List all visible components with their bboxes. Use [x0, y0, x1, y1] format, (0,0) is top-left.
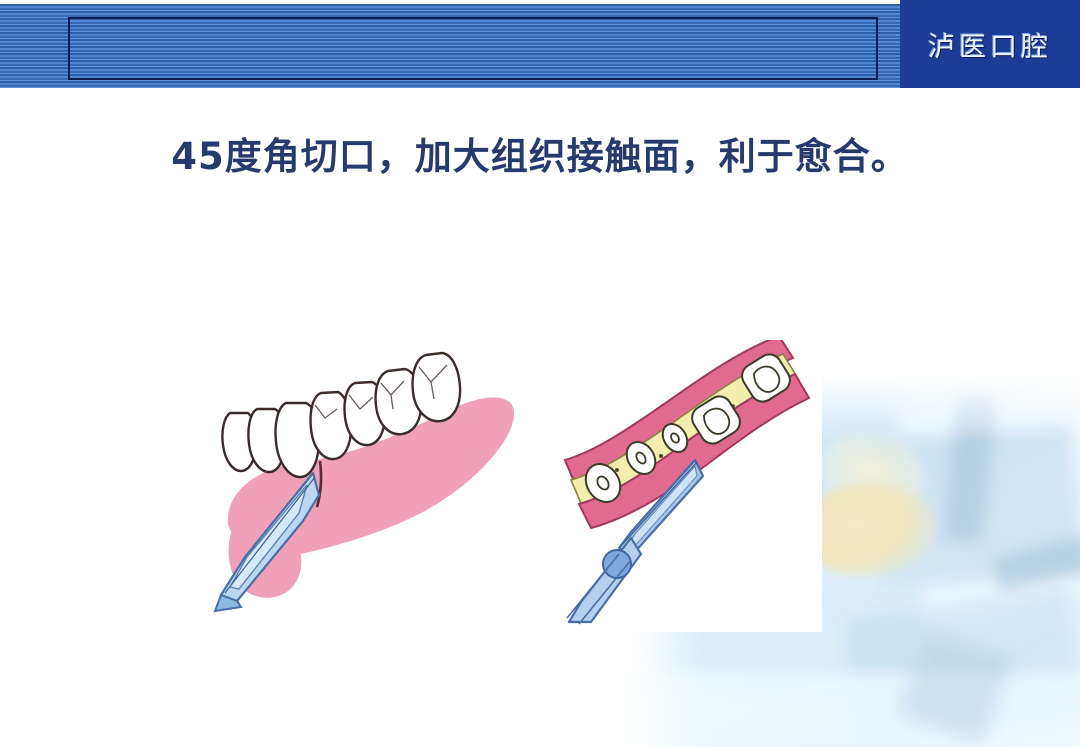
slide-title: 45度角切口，加大组织接触面，利于愈合。 [0, 126, 1080, 180]
cross-section-illustration [545, 340, 825, 625]
logo-text: 泸医口腔 [928, 25, 1052, 64]
teeth-incision-illustration [185, 325, 530, 615]
slide-canvas: 泸医口腔 45度角切口，加大组织接触面，利于愈合。 [0, 0, 1080, 747]
logo-box: 泸医口腔 [900, 0, 1080, 88]
tooth-molar-2 [413, 353, 461, 421]
scalpel-handle [569, 538, 641, 622]
header-inner-frame [68, 17, 878, 80]
